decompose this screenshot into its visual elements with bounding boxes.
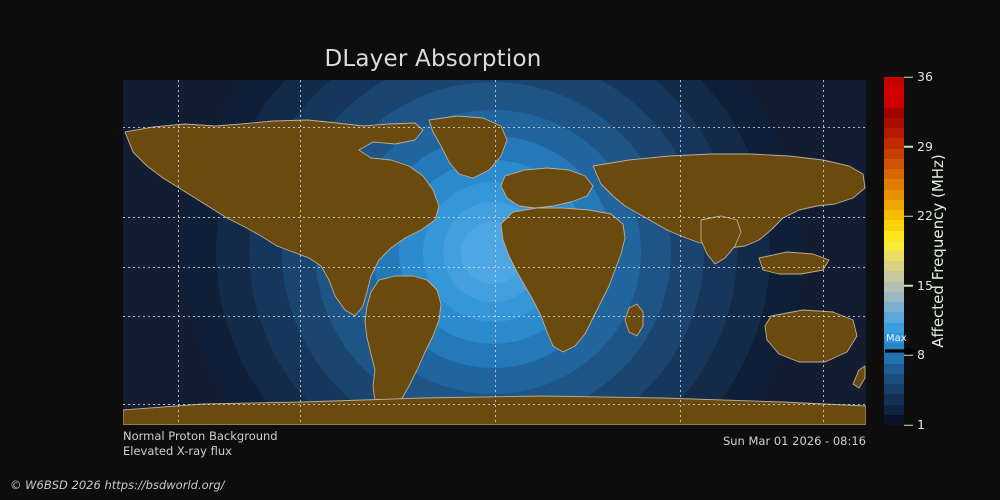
status-line-2: Elevated X-ray flux: [123, 444, 278, 459]
colorbar-tick: 1: [904, 419, 925, 432]
colorbar-segment: [884, 394, 904, 404]
status-line-1: Normal Proton Background: [123, 429, 278, 444]
max-marker-label: Max: [886, 334, 907, 344]
colorbar-segment: [884, 220, 904, 230]
copyright-notice: © W6BSD 2026 https://bsdworld.org/: [10, 478, 225, 492]
landmass-southeast-asia: [759, 252, 829, 274]
status-notes: Normal Proton Background Elevated X-ray …: [123, 429, 278, 459]
page-title: DLayer Absorption: [0, 46, 866, 72]
colorbar-segment: [884, 323, 904, 333]
colorbar[interactable]: [884, 77, 904, 425]
landmass-south-america: [365, 276, 441, 412]
gridline-lon-minus60: [300, 80, 301, 425]
colorbar-segment: [884, 292, 904, 302]
colorbar-segment: [884, 138, 904, 148]
landmass-africa: [501, 208, 625, 352]
colorbar-max-marker: Max: [884, 335, 924, 359]
colorbar-segment: [884, 179, 904, 189]
colorbar-segment: [884, 77, 904, 87]
colorbar-tick-mark: [904, 215, 913, 217]
colorbar-segment: [884, 251, 904, 261]
gridline-lon-0: [495, 80, 496, 425]
colorbar-tick-mark: [904, 424, 913, 426]
gridline-lon-60: [680, 80, 681, 425]
colorbar-segment: [884, 118, 904, 128]
gridline-lon-minus120: [178, 80, 179, 425]
colorbar-segment: [884, 200, 904, 210]
colorbar-segment: [884, 261, 904, 271]
colorbar-segment: [884, 190, 904, 200]
landmass-india: [701, 216, 741, 264]
colorbar-segment: [884, 169, 904, 179]
colorbar-tick-mark: [904, 285, 913, 287]
colorbar-segment: [884, 241, 904, 251]
colorbar-segment: [884, 128, 904, 138]
colorbar-segment: [884, 282, 904, 292]
colorbar-axis-label-text: Affected Frequency (MHz): [929, 154, 947, 348]
colorbar-segment: [884, 405, 904, 415]
colorbar-segment: [884, 374, 904, 384]
colorbar-segment: [884, 87, 904, 97]
gridline-lon-120: [823, 80, 824, 425]
colorbar-segment: [884, 364, 904, 374]
colorbar-tick-mark: [904, 76, 913, 78]
colorbar-segment: [884, 231, 904, 241]
colorbar-segment: [884, 384, 904, 394]
colorbar-segment: [884, 271, 904, 281]
colorbar-segment: [884, 149, 904, 159]
colorbar-segment: [884, 210, 904, 220]
colorbar-axis-label: Affected Frequency (MHz): [925, 77, 951, 425]
colorbar-segment: [884, 108, 904, 118]
app-root: DLayer Absorption: [0, 0, 1000, 500]
landmass-australia: [765, 310, 857, 362]
world-map-panel[interactable]: [123, 80, 866, 425]
arrow-right-icon: [885, 347, 917, 355]
colorbar-tick-label: 1: [917, 419, 925, 432]
colorbar-segment: [884, 97, 904, 107]
colorbar-segment: [884, 415, 904, 425]
landmass-europe: [501, 168, 593, 208]
colorbar-segment: [884, 312, 904, 322]
colorbar-segment: [884, 159, 904, 169]
landmass-madagascar: [625, 304, 643, 336]
colorbar-segment: [884, 302, 904, 312]
landmass-new-zealand: [853, 366, 865, 388]
timestamp: Sun Mar 01 2026 - 08:16: [566, 434, 866, 449]
colorbar-tick-mark: [904, 146, 913, 148]
